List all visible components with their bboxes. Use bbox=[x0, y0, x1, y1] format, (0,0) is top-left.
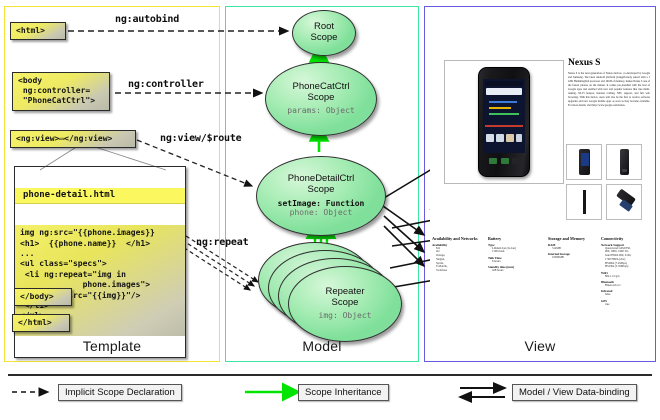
spec-heading-connectivity: Connectivity bbox=[601, 236, 651, 241]
view-thumbnail-1[interactable] bbox=[566, 144, 602, 180]
edge-label-view-route: ng:view/$route bbox=[160, 133, 242, 144]
spec-values-gps: true bbox=[601, 303, 651, 307]
html-close-tag[interactable]: </html> bbox=[12, 314, 70, 332]
spec-values-availability: M1O2Orange,Singtel,Sprint,T-Mobile,Vodaf… bbox=[432, 247, 480, 273]
scope-cat-line2: Scope bbox=[308, 92, 335, 103]
spec-heading-battery: Battery bbox=[488, 236, 540, 241]
body-open-tag[interactable]: <body ng:controller= "PhoneCatCtrl"> bbox=[12, 72, 110, 111]
scope-root-line1: Root bbox=[314, 21, 334, 32]
legend-item-scope-inheritance: Scope Inheritance bbox=[298, 384, 389, 401]
scope-repeater-prop-img: img: Object bbox=[319, 311, 372, 320]
spec-column-connectivity: Connectivity Network Support Quad-band G… bbox=[601, 236, 651, 306]
spec-values-infrared: false bbox=[601, 293, 651, 297]
column-label-view: View bbox=[424, 338, 656, 354]
legend-item-implicit-scope: Implicit Scope Declaration bbox=[58, 384, 182, 401]
scope-detail-line1: PhoneDetailCtrl bbox=[288, 173, 355, 184]
note-title: phone-detail.html bbox=[15, 188, 185, 205]
scope-cat-prop-params: params: Object bbox=[287, 106, 354, 115]
spec-values-bluetooth: Bluetooth 2.1 bbox=[601, 284, 651, 288]
legend-divider bbox=[8, 374, 652, 376]
scope-repeater-line2: Scope bbox=[332, 297, 359, 308]
spec-column-storage: Storage and Memory RAM 512MB Internal St… bbox=[548, 236, 598, 260]
edge-label-controller: ng:controller bbox=[128, 79, 204, 90]
view-thumbnail-4[interactable] bbox=[606, 184, 642, 220]
scope-phonedetailctrl[interactable]: PhoneDetailCtrl Scope setImage: Function… bbox=[256, 156, 386, 236]
column-label-model: Model bbox=[225, 338, 419, 354]
spec-values-battery-standby: 428 hours bbox=[488, 269, 540, 273]
phone-illustration bbox=[478, 67, 530, 177]
spec-values-ram: 512MB bbox=[548, 247, 598, 251]
view-phone-title: Nexus S bbox=[568, 58, 600, 68]
spec-column-availability: Availability and Networks Availability M… bbox=[432, 236, 480, 273]
body-close-tag[interactable]: </body> bbox=[14, 288, 72, 306]
scope-detail-prop-setimage: setImage: Function bbox=[278, 199, 365, 208]
scope-repeater[interactable]: Repeater Scope img: Object bbox=[288, 266, 402, 342]
view-phone-description: Nexus S is the next generation of Nexus … bbox=[568, 72, 650, 108]
legend-item-data-binding: Model / View Data-binding bbox=[512, 384, 637, 401]
view-thumbnail-2[interactable] bbox=[606, 144, 642, 180]
scope-root-line2: Scope bbox=[311, 32, 338, 43]
scope-phonecatctrl[interactable]: PhoneCatCtrl Scope params: Object bbox=[265, 62, 377, 136]
scope-root[interactable]: Root Scope bbox=[292, 10, 356, 56]
scope-detail-prop-phone: phone: Object bbox=[290, 208, 353, 217]
scope-detail-line2: Scope bbox=[308, 184, 335, 195]
column-label-template: Template bbox=[4, 338, 220, 354]
spec-values-wifi: 802.11 b/g/n bbox=[601, 275, 651, 279]
ngview-tag[interactable]: <ng:view>▭</ng:view> bbox=[10, 130, 136, 148]
spec-values-network: Quad-band GSM 850,900, 1800, 1900 Tri-ba… bbox=[601, 247, 651, 270]
scope-cat-line1: PhoneCatCtrl bbox=[292, 81, 349, 92]
phone-hero-frame[interactable] bbox=[444, 60, 564, 184]
view-thumbnail-3[interactable] bbox=[566, 184, 602, 220]
spec-values-internal: 16384MB bbox=[548, 256, 598, 260]
spec-heading-storage: Storage and Memory bbox=[548, 236, 598, 241]
html-open-tag[interactable]: <html> bbox=[10, 22, 66, 40]
diagram-canvas: <html> <body ng:controller= "PhoneCatCtr… bbox=[0, 0, 660, 420]
scope-repeater-line1: Repeater bbox=[325, 286, 364, 297]
spec-column-battery: Battery Type Lithium Ion (Li-Ion)1500 mA… bbox=[488, 236, 540, 273]
spec-values-battery-talk: 6 hours bbox=[488, 260, 540, 264]
edge-label-autobind: ng:autobind bbox=[115, 14, 179, 25]
spec-heading-availability: Availability and Networks bbox=[432, 236, 480, 241]
spec-values-battery-type: Lithium Ion (Li-Ion)1500 mAh bbox=[488, 247, 540, 255]
edge-label-repeat: ng:repeat bbox=[196, 237, 248, 248]
